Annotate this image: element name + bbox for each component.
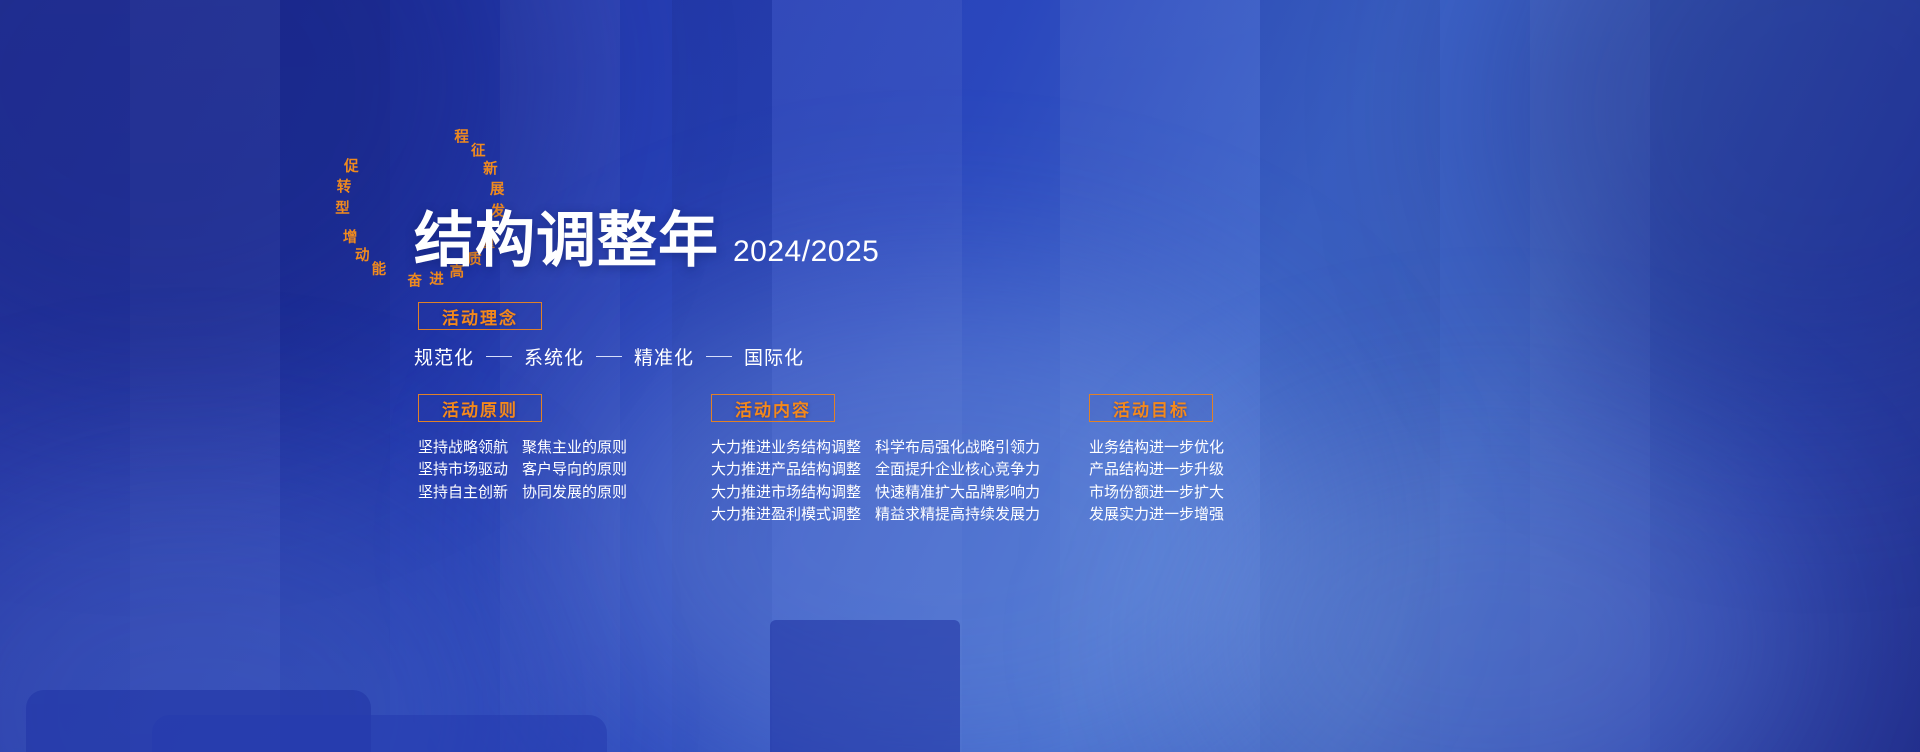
badge-goals[interactable]: 活动目标 [1089,394,1213,422]
list-item: 坚持战略领航 聚焦主业的原则 [418,437,627,459]
list-item-part-a: 坚持市场驱动 [418,459,508,481]
glow-bottomleft [0,470,520,752]
list-item-part-a: 大力推进业务结构调整 [711,437,861,459]
list-item: 业务结构进一步优化 [1089,437,1224,459]
list-item: 产品结构进一步升级 [1089,459,1224,481]
shape-center-column [770,620,960,752]
band-7 [1060,0,1260,752]
background-rounded-shapes [0,0,1920,752]
glow-topright-dark [1500,0,1920,420]
band-4 [500,0,620,752]
list-item-part-a: 坚持自主创新 [418,482,508,504]
band-5 [672,0,772,752]
concept-separator [706,356,732,358]
column-principles: 坚持战略领航 聚焦主业的原则 坚持市场驱动 客户导向的原则 坚持自主创新 协同发… [418,437,627,504]
list-item: 大力推进盈利模式调整 精益求精提高持续发展力 [711,504,1040,526]
list-item-part-b: 聚焦主业的原则 [522,437,627,459]
list-item-part-a: 大力推进产品结构调整 [711,459,861,481]
badge-content[interactable]: 活动内容 [711,394,835,422]
concept-item-2: 精准化 [634,343,694,370]
badge-principles[interactable]: 活动原则 [418,394,542,422]
band-8 [1260,0,1440,752]
list-item: 大力推进市场结构调整 快速精准扩大品牌影响力 [711,482,1040,504]
list-item-part-b: 精益求精提高持续发展力 [875,504,1040,526]
list-item-part-a: 大力推进盈利模式调整 [711,504,861,526]
list-item-part-b: 全面提升企业核心竞争力 [875,459,1040,481]
band-2 [130,0,280,752]
band-6 [772,0,962,752]
list-item-part-a: 坚持战略领航 [418,437,508,459]
band-9 [1530,0,1650,752]
shape-left-1 [26,690,371,752]
list-item-part-b: 科学布局强化战略引领力 [875,437,1040,459]
list-item: 大力推进业务结构调整 科学布局强化战略引领力 [711,437,1040,459]
list-item-part-a: 业务结构进一步优化 [1089,437,1224,459]
band-3 [280,0,390,752]
list-item: 坚持市场驱动 客户导向的原则 [418,459,627,481]
list-item: 发展实力进一步增强 [1089,504,1224,526]
list-item-part-a: 市场份额进一步扩大 [1089,482,1224,504]
list-item-part-b: 协同发展的原则 [522,482,627,504]
list-item: 大力推进产品结构调整 全面提升企业核心竞争力 [711,459,1040,481]
page-title: 结构调整年 [414,211,719,271]
band-10 [1650,0,1920,752]
year-range-label: 2024/2025 [733,237,879,271]
concept-item-3: 国际化 [744,343,804,370]
concept-separator [596,356,622,358]
list-item: 坚持自主创新 协同发展的原则 [418,482,627,504]
list-item-part-b: 快速精准扩大品牌影响力 [875,482,1040,504]
shape-left-2 [152,715,607,752]
title-block: 结构调整年 2024/2025 [414,211,879,271]
list-item-part-a: 产品结构进一步升级 [1089,459,1224,481]
background-bands [0,0,1920,752]
column-content: 大力推进业务结构调整 科学布局强化战略引领力 大力推进产品结构调整 全面提升企业… [711,437,1040,527]
list-item-part-a: 发展实力进一步增强 [1089,504,1224,526]
concept-item-1: 系统化 [524,343,584,370]
background-glows [0,0,1920,752]
list-item-part-b: 客户导向的原则 [522,459,627,481]
column-goals: 业务结构进一步优化 产品结构进一步升级 市场份额进一步扩大 发展实力进一步增强 [1089,437,1224,527]
list-item-part-a: 大力推进市场结构调整 [711,482,861,504]
poster-canvas: 促 转 型 增 动 能 奋 进 高 质 量 发 展 新 征 程 结构调整年 20… [0,0,1920,752]
band-1 [0,0,130,752]
list-item: 市场份额进一步扩大 [1089,482,1224,504]
concept-items: 规范化 系统化 精准化 国际化 [414,343,804,370]
badge-concept[interactable]: 活动理念 [418,302,542,330]
concept-separator [486,356,512,358]
concept-item-0: 规范化 [414,343,474,370]
glow-right-light [1180,430,1800,752]
